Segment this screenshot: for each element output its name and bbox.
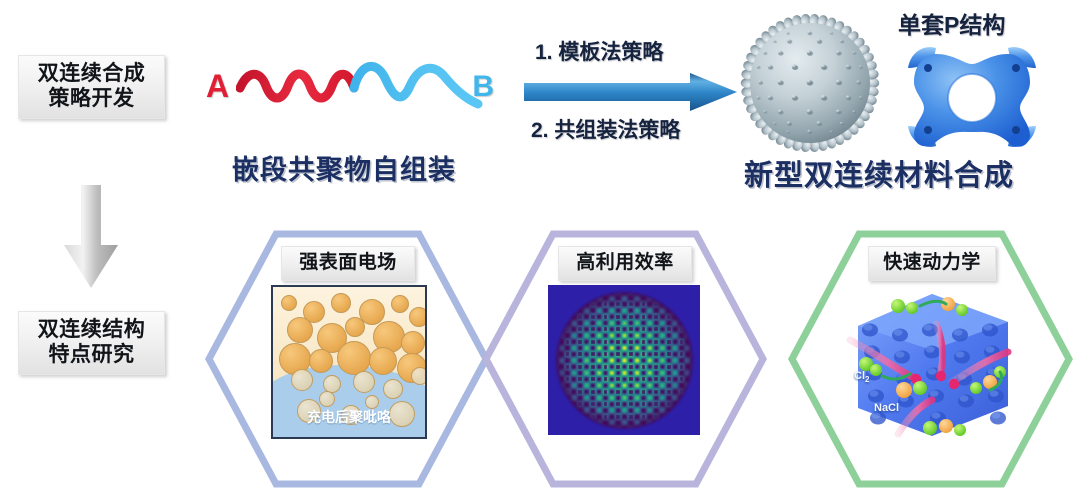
down-arrow-icon <box>62 185 120 290</box>
chloride-sphere <box>956 304 968 316</box>
particle-dot <box>353 371 375 393</box>
charged-polypyrrole-particles-icon: 充电后聚吡咯 <box>271 285 427 439</box>
right-arrow-icon <box>524 72 738 112</box>
particle-dot <box>287 317 313 343</box>
molecule-label-nacl: NaCl <box>874 402 899 414</box>
particle-dot <box>383 379 403 399</box>
bicontinuous-gyroid-transport-icon: Cl2 NaCl <box>840 278 1022 446</box>
new-material-caption: 新型双连续材料合成 <box>744 152 1014 194</box>
heatmap-canvas <box>548 285 700 435</box>
chloride-sphere <box>954 424 966 436</box>
spiky-bicontinuous-sphere-icon <box>733 8 888 158</box>
panel-utilization: 高利用效率 <box>482 228 767 490</box>
strategy-item-2: 2. 共组装法策略 <box>531 114 680 144</box>
block-b-label: B <box>472 70 494 104</box>
particle-dot <box>291 369 313 391</box>
stage-label-synthesis-line1: 双连续合成 <box>38 62 146 87</box>
particle-dot <box>401 331 425 355</box>
stage-label-structure: 双连续结构 特点研究 <box>18 311 165 375</box>
charge-marker <box>936 371 946 381</box>
particle-dot <box>411 367 427 385</box>
panel-surface-field: 充电后聚吡咯 强表面电场 <box>205 228 490 490</box>
chloride-sphere <box>970 382 982 394</box>
panel-title-surface-field: 强表面电场 <box>281 246 415 281</box>
stage-label-synthesis-line2: 策略开发 <box>49 87 135 112</box>
gyroid-svg <box>840 278 1022 446</box>
panel1-inner-label: 充电后聚吡咯 <box>273 407 425 427</box>
panel-kinetics: Cl2 NaCl 快速动力学 <box>788 228 1073 490</box>
viridis-lattice-heatmap-icon <box>548 285 700 435</box>
particle-dot <box>345 317 365 337</box>
panel-title-kinetics: 快速动力学 <box>868 246 996 281</box>
panel-title-text: 快速动力学 <box>883 252 981 274</box>
sodium-sphere <box>939 419 953 433</box>
copolymer-caption: 嵌段共聚物自组装 <box>232 148 456 187</box>
particle-dot <box>309 349 333 373</box>
particle-dot <box>337 341 371 375</box>
panel-title-text: 强表面电场 <box>299 252 397 274</box>
stage-label-structure-line2: 特点研究 <box>49 343 135 368</box>
molecule-label-cl2: Cl2 <box>854 370 869 384</box>
chloride-sphere <box>913 381 927 395</box>
particle-dot <box>369 347 397 375</box>
block-copolymer-group: A B <box>196 52 496 122</box>
stage-label-synthesis: 双连续合成 策略开发 <box>18 55 165 119</box>
chloride-sphere <box>870 364 882 376</box>
block-copolymer-chain-icon <box>236 52 486 122</box>
chloride-sphere <box>906 302 918 314</box>
charge-marker <box>949 379 959 389</box>
particle-dot <box>391 295 409 313</box>
chloride-sphere <box>923 421 937 435</box>
stage-label-structure-line1: 双连续结构 <box>38 318 146 343</box>
particle-dot <box>331 293 351 313</box>
chloride-sphere <box>891 299 905 313</box>
p-surface-unit-cell-icon <box>902 38 1042 156</box>
particle-dot <box>409 307 427 327</box>
block-a-label: A <box>206 68 229 105</box>
strategy-item-1: 1. 模板法策略 <box>535 36 663 66</box>
sodium-sphere <box>896 382 912 398</box>
particle-dot <box>319 391 335 407</box>
p-structure-label: 单套P结构 <box>898 6 1005 40</box>
panel-title-utilization: 高利用效率 <box>558 246 692 281</box>
panel-title-text: 高利用效率 <box>576 252 674 274</box>
particle-dot <box>281 295 297 311</box>
graphical-abstract-stage: 双连续合成 策略开发 双连续结构 特点研究 A <box>0 0 1080 493</box>
